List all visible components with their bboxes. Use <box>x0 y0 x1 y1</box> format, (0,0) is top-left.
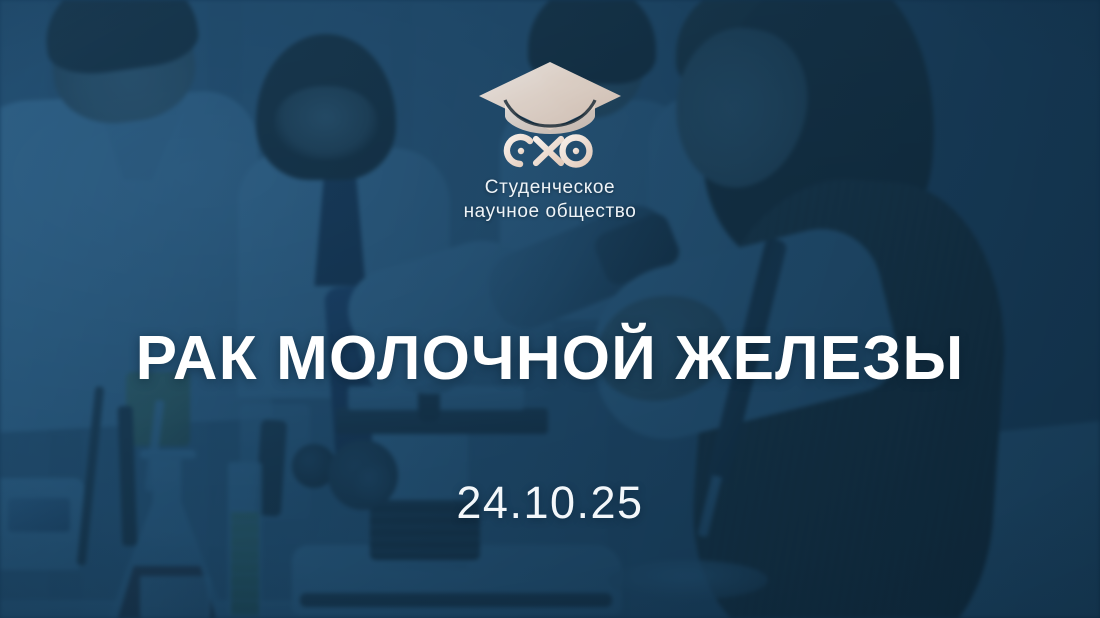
event-date: 24.10.25 <box>0 477 1100 529</box>
slide-content: Студенческое научное общество РАК МОЛОЧН… <box>0 0 1100 618</box>
sno-logo: Студенческое научное общество <box>420 60 680 225</box>
presentation-title-slide: Студенческое научное общество РАК МОЛОЧН… <box>0 0 1100 618</box>
logo-caption: Студенческое научное общество <box>464 176 637 225</box>
logo-caption-line-2: научное общество <box>464 200 637 224</box>
logo-caption-line-1: Студенческое <box>464 176 637 200</box>
graduation-cap-icon <box>475 60 625 170</box>
page-title: РАК МОЛОЧНОЙ ЖЕЛЕЗЫ <box>0 326 1100 391</box>
